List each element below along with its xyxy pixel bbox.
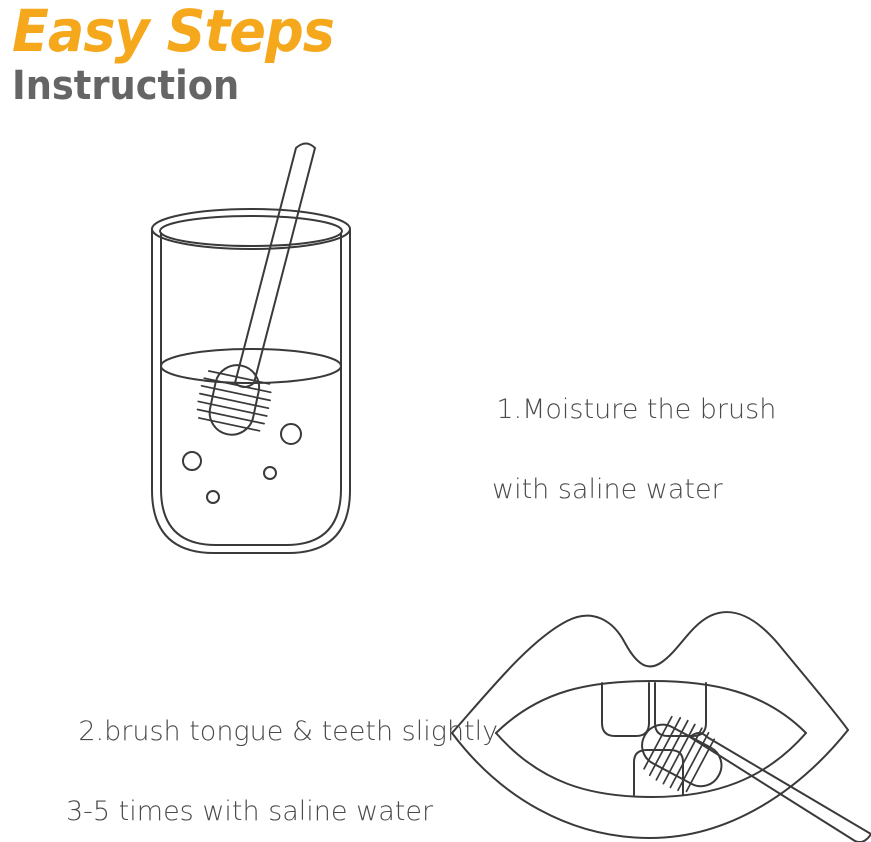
step-2-line-1: 2.brush tongue & teeth slightly [78, 716, 498, 747]
step-1-caption: 1.Moisture the brush with saline water [462, 350, 776, 590]
lower-lip-outline [452, 730, 848, 838]
step-2-line-2: 3-5 times with saline water [44, 792, 498, 832]
upper-tooth-right [655, 683, 706, 736]
step-1-line-2: with saline water [462, 470, 776, 510]
mouth-opening-lower [496, 733, 806, 797]
instruction-page: Easy Steps Instruction [0, 0, 871, 842]
lower-tooth [634, 750, 683, 795]
step-1-line-1: 1.Moisture the brush [496, 394, 776, 425]
mouth-opening-upper [496, 681, 806, 733]
upper-tooth-left [602, 683, 649, 736]
step-2-caption: 2.brush tongue & teeth slightly 3-5 time… [44, 672, 498, 842]
